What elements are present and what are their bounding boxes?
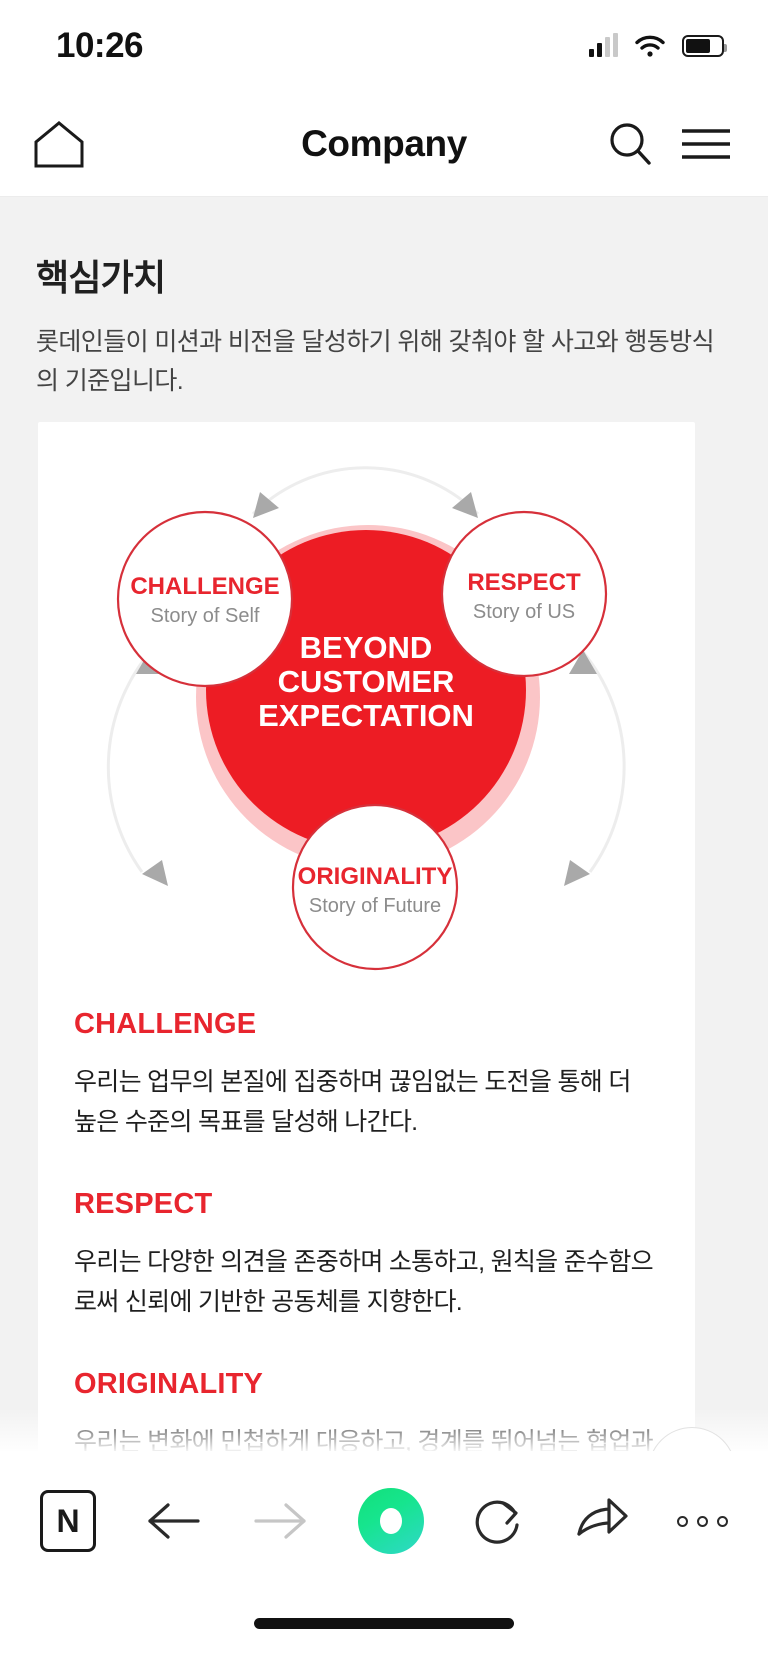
- section-heading: 핵심가치: [36, 249, 732, 301]
- status-bar: 10:26: [0, 0, 768, 92]
- cellular-signal-icon: [589, 35, 618, 57]
- naver-brand-button[interactable]: N: [40, 1490, 96, 1552]
- value-description: 우리는 업무의 본질에 집중하며 끊임없는 도전을 통해 더 높은 수준의 목표…: [74, 1063, 659, 1142]
- value-title: RESPECT: [74, 1188, 659, 1221]
- phone-screen: 10:26 Company: [0, 0, 768, 1663]
- value-title: CHALLENGE: [74, 1008, 659, 1041]
- home-icon[interactable]: [32, 120, 86, 168]
- more-options-icon[interactable]: [677, 1516, 728, 1527]
- status-icon-group: [589, 35, 724, 57]
- refresh-icon[interactable]: [471, 1495, 527, 1547]
- naver-home-icon[interactable]: [358, 1488, 424, 1554]
- diagram-center-line1: BEYOND: [300, 630, 433, 665]
- forward-arrow-icon[interactable]: [250, 1498, 312, 1544]
- browser-toolbar: N: [0, 1451, 768, 1663]
- diagram-node-challenge-subtitle: Story of Self: [151, 605, 260, 627]
- battery-icon: [682, 35, 724, 57]
- home-indicator: [254, 1618, 514, 1629]
- diagram-node-respect-subtitle: Story of US: [473, 601, 575, 623]
- back-arrow-icon[interactable]: [142, 1498, 204, 1544]
- diagram-node-challenge-title: CHALLENGE: [130, 573, 279, 600]
- status-time: 10:26: [56, 26, 143, 66]
- app-header: Company: [0, 92, 768, 197]
- page-content: 핵심가치 롯데인들이 미션과 비전을 달성하기 위해 갖춰야 할 사고와 행동방…: [0, 197, 768, 1663]
- intro-section: 핵심가치 롯데인들이 미션과 비전을 달성하기 위해 갖춰야 할 사고와 행동방…: [0, 197, 768, 401]
- value-item-challenge: CHALLENGE 우리는 업무의 본질에 집중하며 끊임없는 도전을 통해 더…: [74, 1008, 659, 1142]
- value-title: ORIGINALITY: [74, 1368, 659, 1401]
- diagram-node-originality-title: ORIGINALITY: [298, 863, 453, 890]
- value-item-respect: RESPECT 우리는 다양한 의견을 존중하며 소통하고, 원칙을 준수함으로…: [74, 1188, 659, 1322]
- section-description: 롯데인들이 미션과 비전을 달성하기 위해 갖춰야 할 사고와 행동방식의 기준…: [36, 323, 732, 401]
- diagram-center-line2: CUSTOMER: [278, 664, 455, 699]
- search-icon[interactable]: [606, 120, 654, 168]
- hamburger-menu-icon[interactable]: [680, 124, 732, 164]
- diagram-node-originality-subtitle: Story of Future: [309, 895, 441, 917]
- share-icon[interactable]: [573, 1496, 631, 1546]
- core-values-diagram: BEYOND CUSTOMER EXPECTATION CHALLENGE St…: [38, 422, 695, 1002]
- diagram-node-respect-title: RESPECT: [467, 569, 581, 596]
- value-description: 우리는 다양한 의견을 존중하며 소통하고, 원칙을 준수함으로써 신뢰에 기반…: [74, 1243, 659, 1322]
- diagram-center-line3: EXPECTATION: [258, 698, 474, 733]
- wifi-icon: [635, 35, 665, 57]
